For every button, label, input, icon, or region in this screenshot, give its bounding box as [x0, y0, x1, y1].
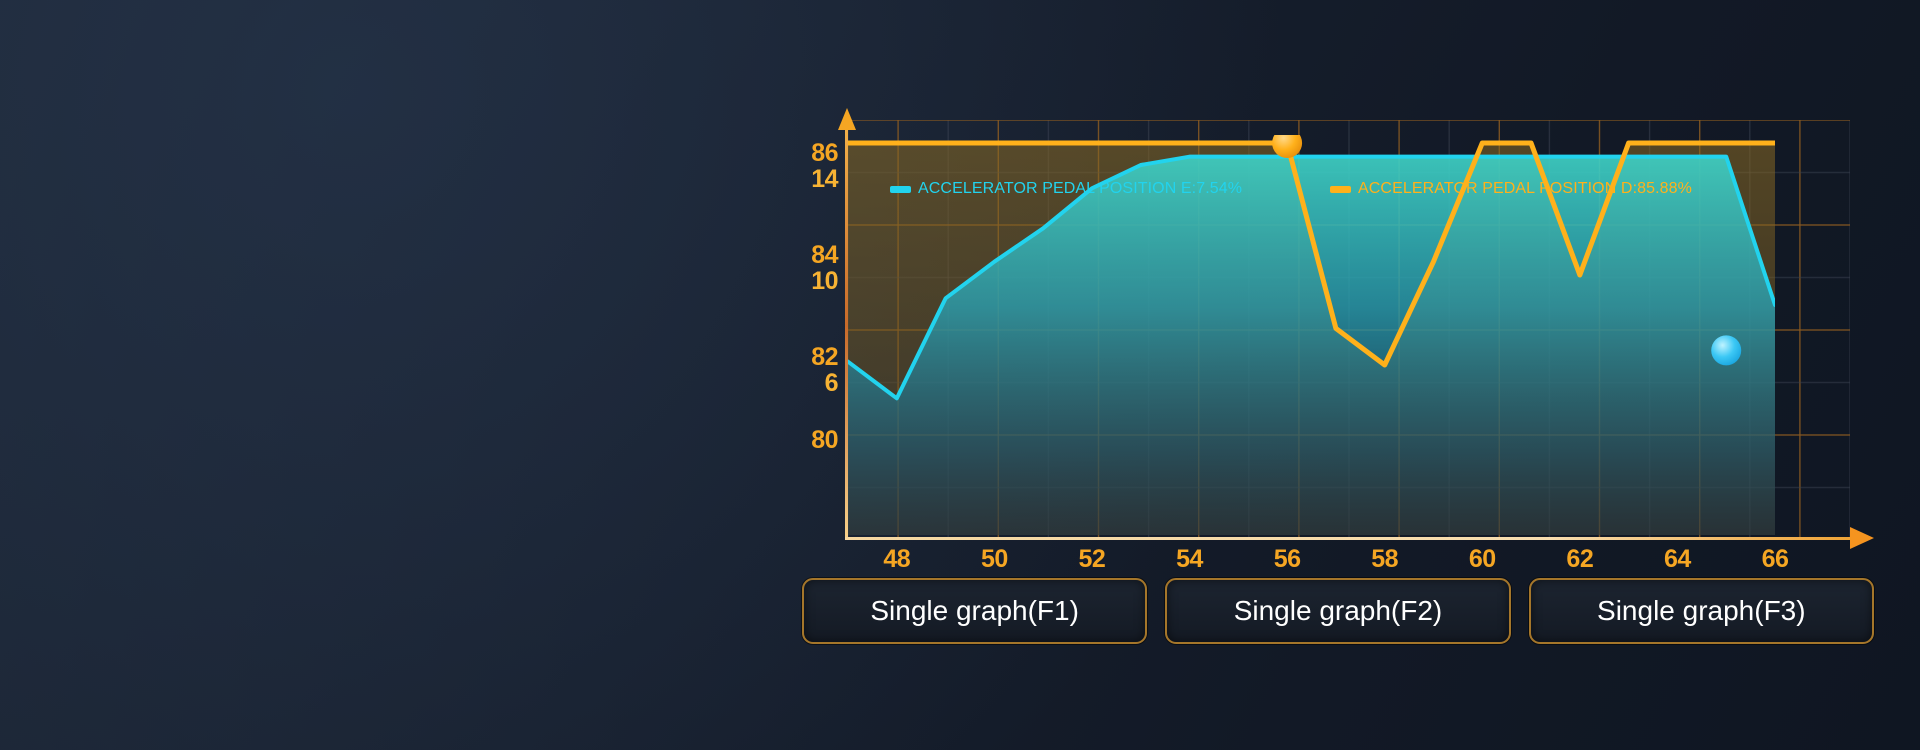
legend-item: ACCELERATOR PEDAL POSITION D:85.88%: [1330, 180, 1692, 198]
single-graph-button-f1[interactable]: Single graph(F1): [802, 578, 1147, 644]
y-tick-secondary: 10: [811, 268, 838, 294]
x-axis-tick: 62: [1566, 545, 1593, 574]
y-tick-primary: 80: [811, 427, 838, 453]
y-axis-tick: 80: [811, 427, 838, 453]
y-axis-line: [845, 128, 848, 540]
y-axis-labels: 8614841082680: [760, 120, 838, 550]
x-axis-arrow-icon: [1850, 527, 1874, 549]
x-axis-tick: 54: [1176, 545, 1203, 574]
x-axis-tick: 58: [1371, 545, 1398, 574]
legend-label: ACCELERATOR PEDAL POSITION D:85.88%: [1358, 180, 1692, 198]
y-tick-primary: 86: [811, 140, 838, 166]
y-axis-arrow-icon: [838, 108, 856, 130]
x-axis-tick: 48: [883, 545, 910, 574]
x-axis-line: [845, 537, 1850, 540]
single-graph-button-f2[interactable]: Single graph(F2): [1165, 578, 1510, 644]
graph-viewer: 8614841082680 48505254565860626466 ACCEL…: [0, 0, 1920, 750]
x-axis-tick: 66: [1762, 545, 1789, 574]
legend-swatch-cyan: [890, 186, 911, 193]
y-tick-primary: 82: [811, 344, 838, 370]
legend-item: ACCELERATOR PEDAL POSITION E:7.54%: [890, 180, 1242, 198]
x-axis-tick: 64: [1664, 545, 1691, 574]
x-axis-tick: 52: [1079, 545, 1106, 574]
chart-legend: ACCELERATOR PEDAL POSITION E:7.54%ACCELE…: [890, 180, 1710, 204]
y-axis-tick: 8410: [811, 242, 838, 294]
x-axis-tick: 60: [1469, 545, 1496, 574]
x-axis-tick: 50: [981, 545, 1008, 574]
y-axis-tick: 8614: [811, 140, 838, 192]
graph-button-bar: Single graph(F1)Single graph(F2)Single g…: [802, 578, 1874, 644]
legend-label: ACCELERATOR PEDAL POSITION E:7.54%: [918, 180, 1242, 198]
y-tick-secondary: 6: [811, 370, 838, 396]
y-tick-primary: 84: [811, 242, 838, 268]
series-e-marker: [1711, 335, 1741, 365]
single-graph-button-f3[interactable]: Single graph(F3): [1529, 578, 1874, 644]
legend-swatch-orange: [1330, 186, 1351, 193]
y-tick-secondary: 14: [811, 166, 838, 192]
x-axis-tick: 56: [1274, 545, 1301, 574]
y-axis-tick: 826: [811, 344, 838, 396]
